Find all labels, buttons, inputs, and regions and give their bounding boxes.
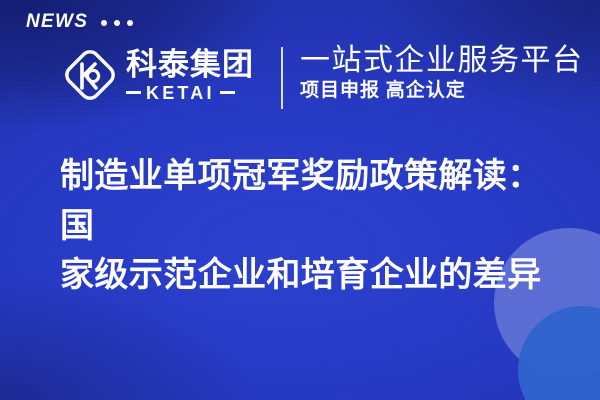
dash-left-icon — [126, 91, 141, 94]
dot-icon — [114, 20, 120, 26]
dot-icon — [127, 20, 133, 26]
brand-name-en: KETAI — [146, 84, 215, 102]
wordmark: 科泰集团 KETAI — [126, 48, 254, 102]
vertical-divider — [281, 47, 283, 109]
tagline-main: 一站式企业服务平台 — [300, 44, 584, 79]
headline-line-1: 制造业单项冠军奖励政策解读：国 — [60, 152, 560, 251]
news-banner: NEWS 科泰集团 KETAI — [0, 0, 600, 400]
dash-right-icon — [220, 91, 235, 94]
brand-name-cn: 科泰集团 — [126, 49, 254, 82]
headline-line-2: 家级示范企业和培育企业的差异 — [60, 251, 560, 301]
eyebrow: NEWS — [26, 12, 133, 31]
brand-lockup: 科泰集团 KETAI — [62, 46, 254, 104]
tagline-block: 一站式企业服务平台 项目申报 高企认定 — [300, 44, 584, 103]
ketai-diamond-k-logo-icon — [62, 46, 118, 104]
tagline-sub: 项目申报 高企认定 — [300, 80, 584, 103]
dot-icon — [101, 20, 107, 26]
headline: 制造业单项冠军奖励政策解读：国 家级示范企业和培育企业的差异 — [60, 152, 560, 301]
brand-name-en-row: KETAI — [126, 84, 254, 102]
ellipsis-dots-icon — [101, 18, 133, 26]
news-label: NEWS — [26, 12, 88, 31]
